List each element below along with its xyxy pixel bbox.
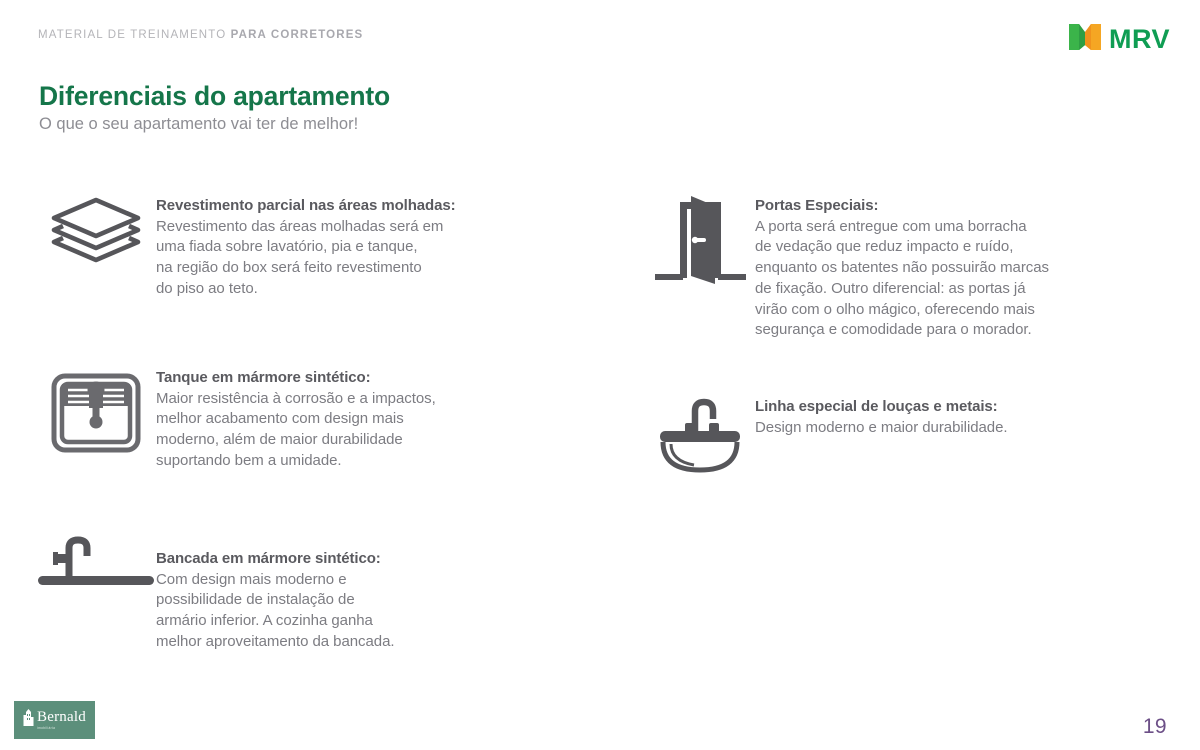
feature-description: A porta será entregue com uma borracha d… xyxy=(755,217,1155,341)
laundry-tank-icon xyxy=(48,371,144,460)
feature-bancada: Bancada em mármore sintético: Com design… xyxy=(36,549,556,653)
feature-loucas: Linha especial de louças e metais: Desig… xyxy=(645,397,1155,480)
feature-description: Maior resistência à corrosão e a impacto… xyxy=(156,389,556,472)
feature-text-wrap: Linha especial de louças e metais: Desig… xyxy=(755,397,1155,438)
feature-text-wrap: Tanque em mármore sintético: Maior resis… xyxy=(156,368,556,472)
bernald-tagline: imobiliária xyxy=(37,727,55,730)
feature-icon-wrap xyxy=(645,194,755,291)
feature-description: Com design mais moderno e possibilidade … xyxy=(156,570,556,653)
feature-description: Design moderno e maior durabilidade. xyxy=(755,418,1155,439)
bernald-logo: Bernald imobiliária xyxy=(14,701,95,739)
feature-icon-wrap xyxy=(36,534,156,597)
features-content: Revestimento parcial nas áreas molhadas:… xyxy=(0,0,1200,750)
feature-icon-wrap xyxy=(36,371,156,460)
feature-portas: Portas Especiais: A porta será entregue … xyxy=(645,196,1155,341)
bernald-name: Bernald xyxy=(37,710,86,725)
feature-title: Portas Especiais: xyxy=(755,196,1155,216)
countertop-faucet-icon xyxy=(36,534,156,597)
page-number: 19 xyxy=(1143,715,1167,739)
feature-revestimento: Revestimento parcial nas áreas molhadas:… xyxy=(36,196,556,300)
washbasin-icon xyxy=(654,397,746,480)
open-door-icon xyxy=(651,194,749,291)
feature-title: Revestimento parcial nas áreas molhadas: xyxy=(156,196,556,216)
feature-text-wrap: Portas Especiais: A porta será entregue … xyxy=(755,196,1155,341)
feature-description: Revestimento das áreas molhadas será em … xyxy=(156,217,556,300)
feature-text-wrap: Bancada em mármore sintético: Com design… xyxy=(156,549,556,653)
feature-title: Bancada em mármore sintético: xyxy=(156,549,556,569)
feature-icon-wrap xyxy=(645,397,755,480)
layers-icon xyxy=(49,196,143,277)
feature-tanque: Tanque em mármore sintético: Maior resis… xyxy=(36,368,556,472)
feature-title: Tanque em mármore sintético: xyxy=(156,368,556,388)
feature-icon-wrap xyxy=(36,196,156,277)
bernald-text: Bernald imobiliária xyxy=(37,710,86,730)
feature-title: Linha especial de louças e metais: xyxy=(755,397,1155,417)
feature-text-wrap: Revestimento parcial nas áreas molhadas:… xyxy=(156,196,556,300)
building-icon xyxy=(23,709,34,731)
